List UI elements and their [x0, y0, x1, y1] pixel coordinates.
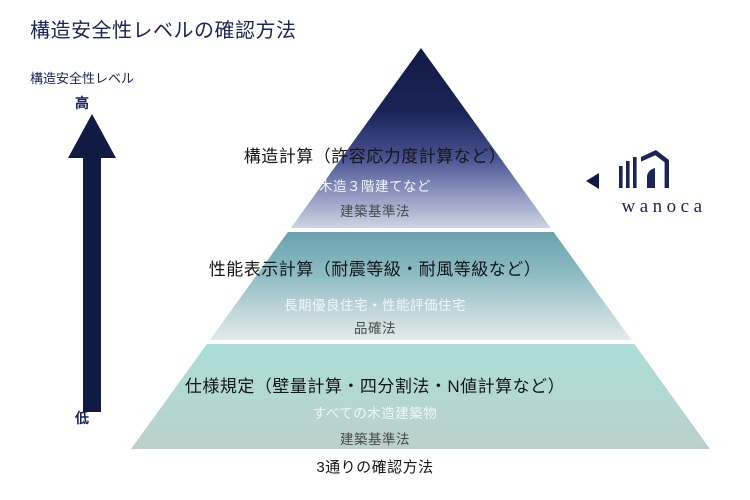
- pyramid-layer-3-subtitle: すべての木造建築物: [0, 402, 750, 422]
- brand-wordmark: wanoca: [599, 196, 729, 218]
- pyramid-layer-2-subtitle: 長期優良住宅・性能評価住宅: [0, 294, 750, 314]
- pyramid-layer-3-law: 建築基準法: [0, 428, 750, 448]
- building-house-logo-icon: [617, 150, 671, 192]
- pyramid-layer-2-title: 性能表示計算（耐震等級・耐風等級など）: [0, 255, 750, 280]
- pyramid-diagram: [0, 0, 750, 500]
- pyramid-layer-2-law: 品確法: [0, 317, 750, 337]
- infographic-canvas: 構造安全性レベルの確認方法 構造安全性レベル 高 低: [0, 0, 750, 500]
- pyramid-layer-3-title: 仕様規定（壁量計算・四分割法・N値計算など）: [0, 372, 750, 397]
- diagram-caption: 3通りの確認方法: [0, 456, 750, 477]
- left-triangle-pointer-icon: [585, 172, 601, 190]
- brand-logo: wanoca: [585, 150, 745, 230]
